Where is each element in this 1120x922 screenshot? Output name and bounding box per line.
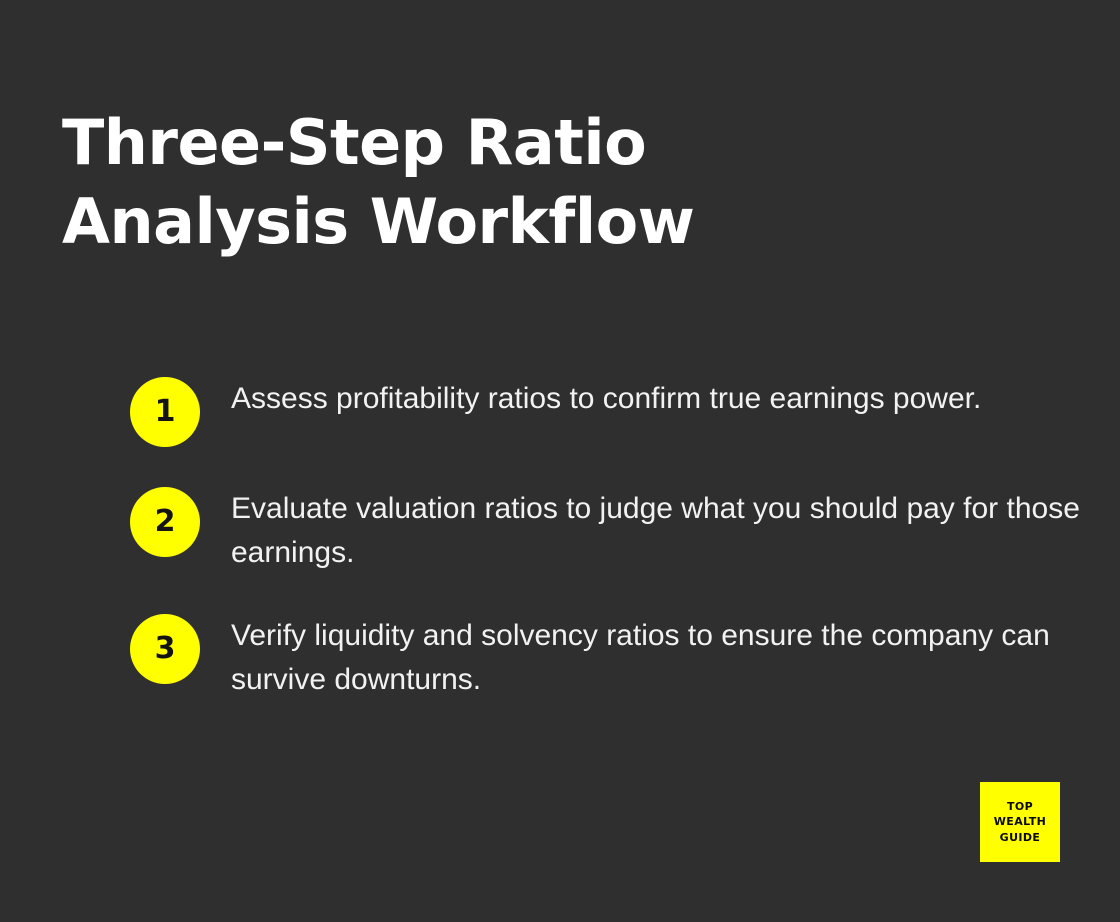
slide-canvas: Three-Step Ratio Analysis Workflow 1 Ass… xyxy=(0,0,1120,922)
step-description: Verify liquidity and solvency ratios to … xyxy=(231,612,1080,701)
step-number-badge: 1 xyxy=(130,377,200,447)
step-description: Assess profitability ratios to confirm t… xyxy=(231,375,1080,421)
step-number-badge: 3 xyxy=(130,614,200,684)
title-block: Three-Step Ratio Analysis Workflow xyxy=(62,103,942,262)
step-number-badge: 2 xyxy=(130,487,200,557)
list-item: 2 Evaluate valuation ratios to judge wha… xyxy=(130,485,1080,574)
logo-line-guide: GUIDE xyxy=(1000,830,1041,846)
steps-list: 1 Assess profitability ratios to confirm… xyxy=(130,375,1080,701)
brand-logo: TOP WEALTH GUIDE xyxy=(980,782,1060,862)
page-title: Three-Step Ratio Analysis Workflow xyxy=(62,103,942,262)
list-item: 1 Assess profitability ratios to confirm… xyxy=(130,375,1080,447)
list-item: 3 Verify liquidity and solvency ratios t… xyxy=(130,612,1080,701)
step-description: Evaluate valuation ratios to judge what … xyxy=(231,485,1080,574)
logo-line-wealth: WEALTH xyxy=(994,814,1046,830)
logo-line-top: TOP xyxy=(1007,799,1033,815)
